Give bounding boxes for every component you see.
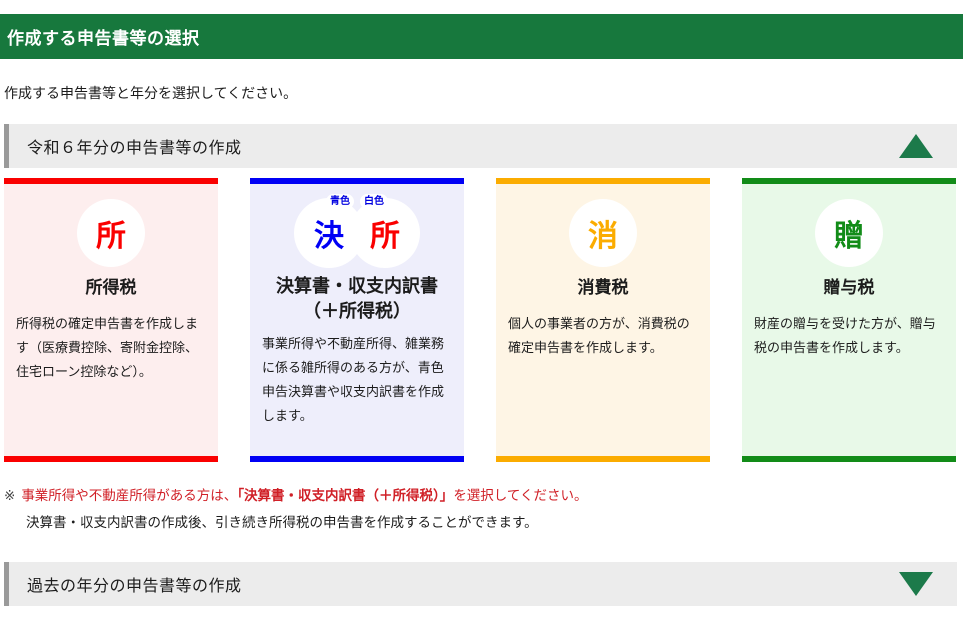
- card-title-line2: （＋所得税）: [276, 299, 438, 324]
- note-line-1: ※ 事業所得や不動産所得がある方は、「決算書・収支内訳書（＋所得税）」を選択して…: [4, 482, 944, 509]
- card-description-gift-tax: 財産の贈与を受けた方が、贈与税の申告書を作成します。: [742, 312, 956, 360]
- glyph-circle-gift-tax: 贈: [815, 199, 883, 267]
- card-accent-bar-bottom: [742, 456, 956, 462]
- accordion-past-years[interactable]: 過去の年分の申告書等の作成: [4, 562, 957, 606]
- card-gift-tax[interactable]: 贈 贈与税 財産の贈与を受けた方が、贈与税の申告書を作成します。: [742, 178, 956, 462]
- card-icon-area: 贈: [742, 192, 956, 274]
- note-line-2: 決算書・収支内訳書の作成後、引き続き所得税の申告書を作成することができます。: [4, 509, 944, 536]
- card-description-consumption-tax: 個人の事業者の方が、消費税の確定申告書を作成します。: [496, 312, 710, 360]
- card-title-settlement-statement: 決算書・収支内訳書 （＋所得税）: [276, 274, 438, 324]
- page-header: 作成する申告書等の選択: [0, 14, 963, 59]
- card-income-tax[interactable]: 所 所得税 所得税の確定申告書を作成します（医療費控除、寄附金控除、住宅ローン控…: [4, 178, 218, 462]
- document-type-card-row: 所 所得税 所得税の確定申告書を作成します（医療費控除、寄附金控除、住宅ローン控…: [4, 178, 959, 462]
- card-icon-area: 消: [496, 192, 710, 274]
- glyph-circle-consumption-tax: 消: [569, 199, 637, 267]
- card-settlement-statement[interactable]: 青色 白色 決 所 決算書・収支内訳書 （＋所得税） 事業所得や不動産所得、雑業…: [250, 178, 464, 462]
- accordion-current-year-label: 令和６年分の申告書等の作成: [9, 134, 242, 158]
- triangle-down-icon[interactable]: [899, 572, 933, 596]
- card-icon-area: 青色 白色 決 所: [250, 192, 464, 274]
- note-line1-after: を選択してください。: [453, 488, 587, 503]
- card-title-gift-tax: 贈与税: [824, 276, 875, 300]
- accordion-past-years-label: 過去の年分の申告書等の作成: [9, 572, 242, 596]
- card-icon-area: 所: [4, 192, 218, 274]
- note-mark: ※: [4, 482, 15, 509]
- pill-white-filing: 白色: [360, 194, 388, 209]
- note-line1-text: 事業所得や不動産所得がある方は、「決算書・収支内訳書（＋所得税）」を選択してくだ…: [21, 482, 587, 509]
- triangle-up-icon[interactable]: [899, 134, 933, 158]
- card-accent-bar-bottom: [250, 456, 464, 462]
- page-title: 作成する申告書等の選択: [0, 24, 200, 49]
- card-accent-bar-bottom: [496, 456, 710, 462]
- filing-type-pills: 青色 白色: [326, 194, 388, 209]
- lead-instruction: 作成する申告書等と年分を選択してください。: [4, 83, 297, 103]
- pill-blue-filing: 青色: [326, 194, 354, 209]
- accordion-current-year[interactable]: 令和６年分の申告書等の作成: [4, 124, 957, 168]
- note-line1-before: 事業所得や不動産所得がある方は、: [21, 488, 237, 503]
- card-accent-bar-bottom: [4, 456, 218, 462]
- glyph-circle-income-tax: 所: [77, 199, 145, 267]
- card-description-income-tax: 所得税の確定申告書を作成します（医療費控除、寄附金控除、住宅ローン控除など）。: [4, 312, 218, 384]
- note-block: ※ 事業所得や不動産所得がある方は、「決算書・収支内訳書（＋所得税）」を選択して…: [4, 482, 944, 536]
- note-line1-strong: 「決算書・収支内訳書（＋所得税）」: [237, 488, 453, 503]
- card-consumption-tax[interactable]: 消 消費税 個人の事業者の方が、消費税の確定申告書を作成します。: [496, 178, 710, 462]
- card-title-line1: 決算書・収支内訳書: [276, 274, 438, 299]
- card-title-income-tax: 所得税: [86, 276, 137, 300]
- card-description-settlement-statement: 事業所得や不動産所得、雑業務に係る雑所得のある方が、青色申告決算書や収支内訳書を…: [250, 332, 464, 428]
- card-title-consumption-tax: 消費税: [578, 276, 629, 300]
